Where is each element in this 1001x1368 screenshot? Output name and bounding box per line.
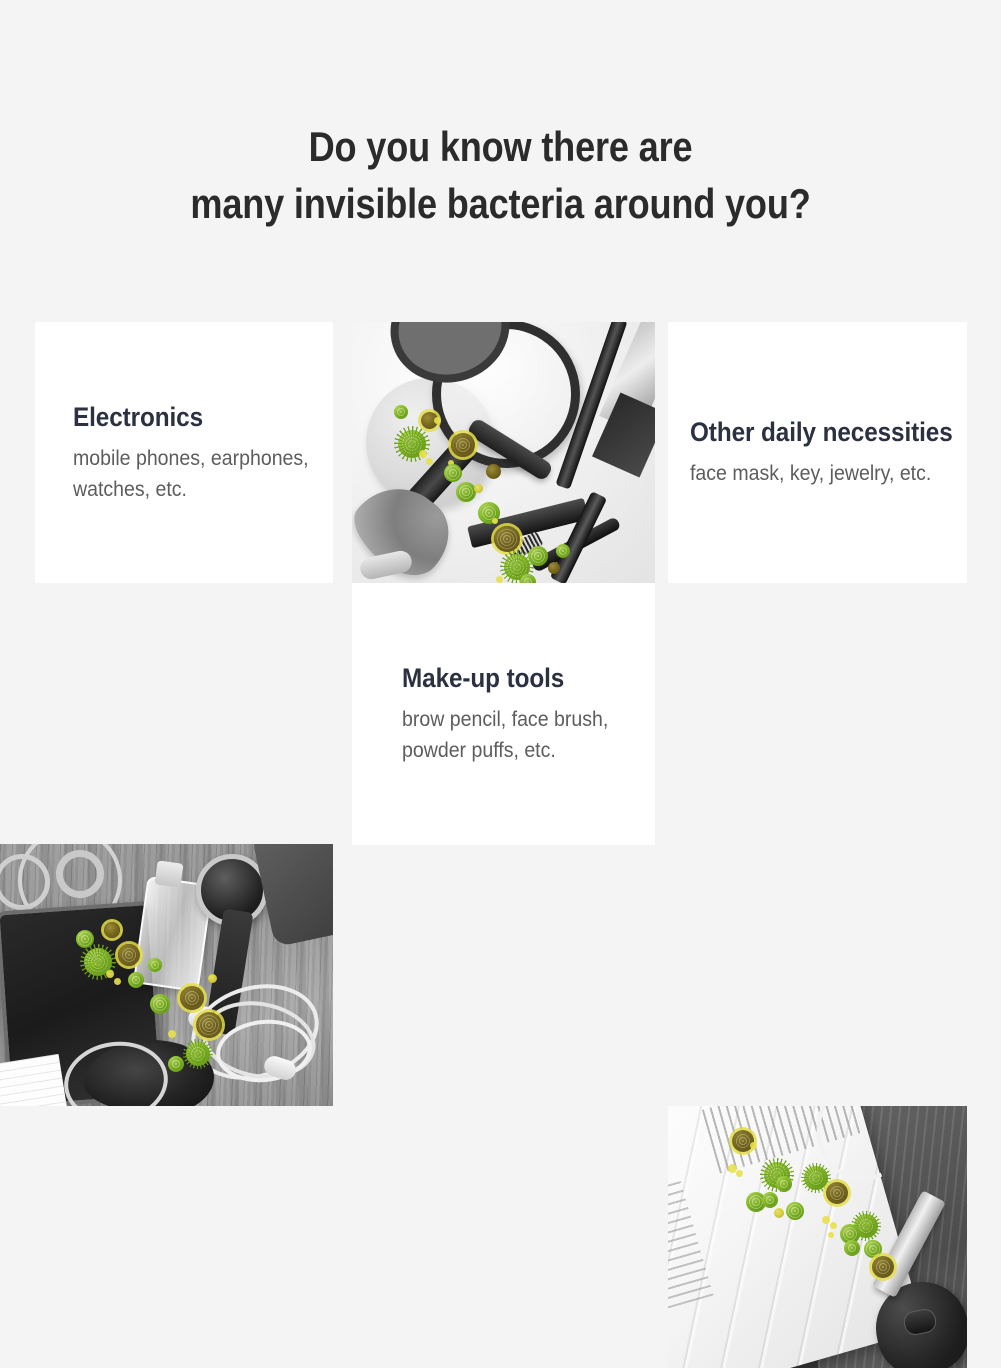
germ-icon <box>520 574 536 583</box>
germ-icon <box>556 544 570 558</box>
card-other-photo <box>668 1106 967 1368</box>
germ-icon <box>474 484 483 493</box>
germ-icon <box>776 1176 792 1192</box>
germ-spore-icon <box>750 1142 757 1149</box>
germ-icon <box>774 1208 784 1218</box>
germ-spore-icon <box>434 417 441 424</box>
paper-sheet-object <box>0 1054 68 1106</box>
germ-icon <box>456 482 476 502</box>
germ-spore-icon <box>168 1030 176 1038</box>
germ-icon <box>786 1202 804 1220</box>
germ-icon <box>394 405 408 419</box>
germ-icon <box>548 562 560 574</box>
card-makeup-text: Make-up tools brow pencil, face brush, p… <box>352 583 655 845</box>
card-description-electronics: mobile phones, earphones, watches, etc. <box>73 443 315 505</box>
germ-icon <box>208 974 217 983</box>
germ-icon <box>732 1130 754 1152</box>
headline-line-1: Do you know there are <box>70 118 931 175</box>
germ-spore-icon <box>114 978 121 985</box>
germ-icon <box>444 464 462 482</box>
ring-object <box>56 850 104 898</box>
germ-icon <box>826 1182 848 1204</box>
germ-icon <box>762 1192 778 1208</box>
germ-icon <box>150 994 170 1014</box>
germ-icon <box>804 1166 828 1190</box>
card-description-electronics-line2: watches, etc. <box>73 474 315 505</box>
germ-spore-icon <box>822 1216 830 1224</box>
germ-icon <box>104 922 120 938</box>
germ-spore-icon <box>106 970 114 978</box>
germ-icon <box>128 972 144 988</box>
germ-spore-icon <box>828 1232 834 1238</box>
card-title-electronics: Electronics <box>73 401 307 433</box>
germ-icon <box>148 958 162 972</box>
germ-icon <box>864 1240 882 1258</box>
germ-spore-icon <box>426 458 433 465</box>
germ-icon <box>486 464 501 479</box>
germ-spore-icon <box>830 1222 837 1229</box>
germ-icon <box>168 1056 184 1072</box>
germ-icon <box>180 986 204 1010</box>
germ-icon <box>196 1012 222 1038</box>
card-electronics-photo <box>0 844 333 1106</box>
card-description-other-line1: face mask, key, jewelry, etc. <box>690 458 948 489</box>
germ-spore-icon <box>419 450 427 458</box>
germ-icon <box>844 1240 860 1256</box>
germ-spore-icon <box>736 1170 743 1177</box>
sanitizer-bottle-cap <box>154 860 183 887</box>
headline-line-2: many invisible bacteria around you? <box>70 175 931 232</box>
germ-icon <box>528 546 548 566</box>
card-other-text: Other daily necessities face mask, key, … <box>668 322 967 583</box>
card-electronics-text: Electronics mobile phones, earphones, wa… <box>35 322 333 583</box>
card-description-electronics-line1: mobile phones, earphones, <box>73 443 315 474</box>
germ-icon <box>872 1256 894 1278</box>
card-description-makeup-line2: powder puffs, etc. <box>402 735 637 766</box>
germ-icon <box>451 433 475 457</box>
page-headline: Do you know there are many invisible bac… <box>70 118 931 232</box>
card-title-makeup: Make-up tools <box>402 662 630 694</box>
germ-spore-icon <box>492 518 498 524</box>
card-description-makeup: brow pencil, face brush, powder puffs, e… <box>402 704 637 766</box>
germ-spore-icon <box>496 576 503 583</box>
card-description-makeup-line1: brow pencil, face brush, <box>402 704 637 735</box>
germ-icon <box>118 944 140 966</box>
card-makeup-photo <box>352 322 655 583</box>
card-title-other: Other daily necessities <box>690 416 939 448</box>
germ-icon <box>494 526 520 552</box>
card-description-other: face mask, key, jewelry, etc. <box>690 458 948 489</box>
germ-icon <box>186 1042 210 1066</box>
